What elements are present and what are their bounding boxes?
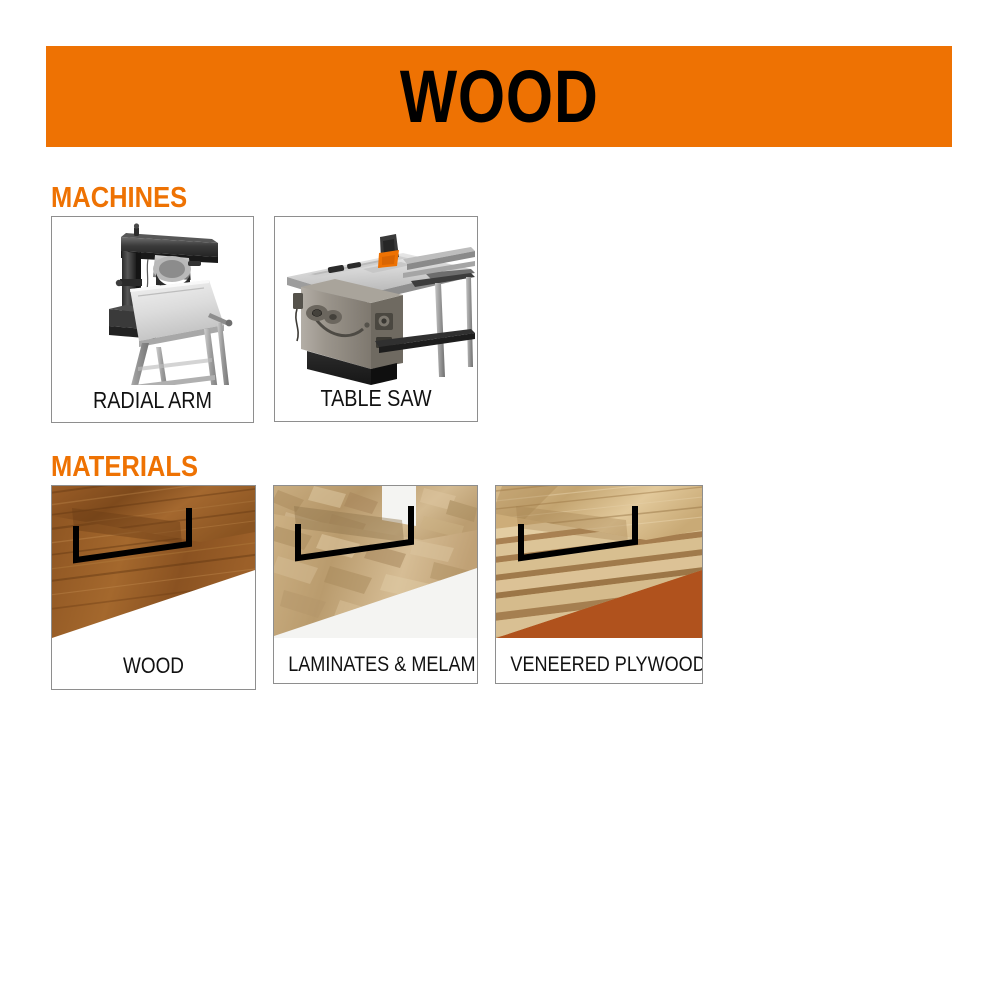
veneered-plywood-image bbox=[496, 486, 702, 638]
particleboard-image bbox=[274, 486, 477, 638]
material-card-veneered-plywoods[interactable]: VENEERED PLYWOODS bbox=[495, 485, 703, 684]
table-saw-image bbox=[275, 217, 477, 385]
material-card-label: LAMINATES & MELAMINES bbox=[288, 654, 463, 675]
material-card-label: VENEERED PLYWOODS bbox=[510, 654, 687, 675]
machine-card-table-saw[interactable]: TABLE SAW bbox=[274, 216, 478, 422]
solid-wood-board-image bbox=[52, 486, 255, 638]
machine-card-label: TABLE SAW bbox=[289, 387, 463, 410]
material-card-laminates[interactable]: LAMINATES & MELAMINES bbox=[273, 485, 478, 684]
radial-arm-saw-image bbox=[52, 217, 253, 385]
page-title: WOOD bbox=[400, 60, 599, 134]
page-header-banner: WOOD bbox=[46, 46, 952, 147]
machine-card-radial-arm[interactable]: RADIAL ARM bbox=[51, 216, 254, 423]
material-card-wood[interactable]: WOOD bbox=[51, 485, 256, 690]
material-card-label: WOOD bbox=[66, 655, 241, 677]
machine-card-label: RADIAL ARM bbox=[66, 389, 239, 412]
section-heading-materials: MATERIALS bbox=[51, 453, 198, 482]
section-heading-machines: MACHINES bbox=[51, 184, 187, 213]
